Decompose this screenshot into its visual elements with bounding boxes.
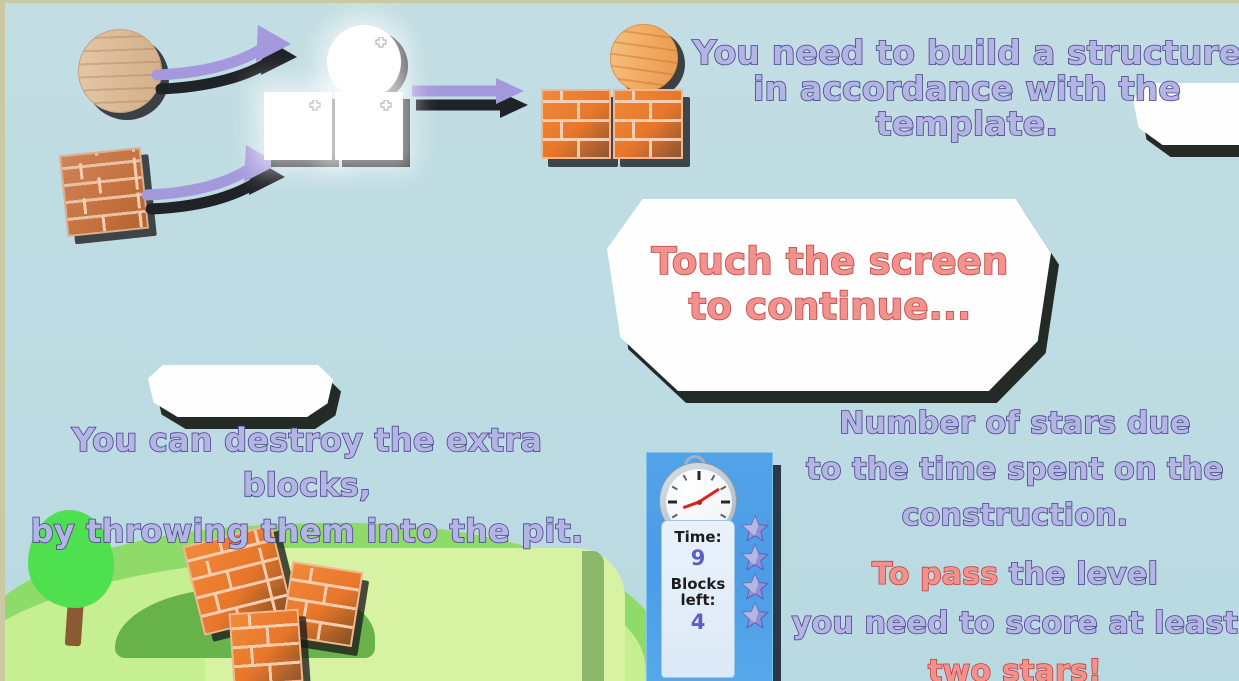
pass-text-purple-1: the level (998, 557, 1158, 592)
template-circle-slot[interactable] (327, 25, 401, 99)
result-wood-circle-block (610, 24, 678, 92)
time-label: Time: (662, 530, 734, 545)
hud-panel: Time: 9 Blocks left: 4 (646, 452, 773, 681)
brick-texture (59, 147, 149, 237)
stopwatch-tick (711, 475, 716, 481)
result-brick-block-right (613, 89, 683, 159)
star-icon (741, 544, 769, 571)
prompt-bubble-text[interactable]: Touch the screento continue... (635, 239, 1025, 329)
puzzle-piece-icon (378, 100, 394, 114)
blocks-left-label: Blocks left: (662, 577, 734, 608)
pass-text-red-2: two stars! (928, 654, 1102, 681)
template-square-slot-right[interactable] (335, 92, 403, 160)
blocks-left-value: 4 (662, 611, 734, 633)
puzzle-piece-icon (373, 37, 389, 51)
puzzle-piece-icon (307, 100, 323, 114)
stopwatch-tick (683, 475, 688, 481)
pass-text-red-1: To pass (872, 557, 998, 592)
decor-bubble-small (148, 365, 333, 417)
instruction-destroy-blocks: You can destroy the extra blocks, by thr… (11, 418, 603, 554)
pass-text-purple-2: you need to score at least (792, 606, 1238, 641)
star-icon (741, 602, 769, 629)
instruction-build-structure: You need to build a structure in accorda… (691, 35, 1239, 142)
source-brick-square-block[interactable] (59, 147, 149, 237)
brick-texture (229, 609, 304, 681)
stopwatch-tick (672, 514, 678, 519)
stopwatch-tick (720, 486, 726, 491)
stopwatch-tick (698, 471, 701, 480)
template-square-slot-left[interactable] (264, 92, 332, 160)
instruction-pass-level: To pass the levelyou need to score at le… (787, 551, 1239, 681)
hud-readout-panel: Time: 9 Blocks left: 4 (661, 520, 735, 678)
brick-texture (613, 89, 683, 159)
arrow-template-to-result (410, 75, 535, 123)
prompt-line-1: Touch the screen (651, 240, 1008, 283)
result-brick-block-left (541, 89, 611, 159)
plateau-shadow (582, 551, 604, 681)
stopwatch-tick (672, 486, 678, 491)
star-icon (741, 515, 769, 542)
star-icon (741, 573, 769, 600)
stopwatch-tick (721, 501, 730, 504)
star-rating (741, 515, 771, 631)
brick-texture (541, 89, 611, 159)
instruction-stars-time: Number of stars due to the time spent on… (789, 401, 1239, 539)
stopwatch-tick (668, 501, 677, 504)
bubble-fill (148, 365, 333, 417)
stopwatch-pin (697, 500, 702, 505)
fallen-brick-block-3[interactable] (229, 609, 304, 681)
stopwatch-tick (720, 514, 726, 519)
prompt-line-2: to continue... (689, 285, 972, 328)
tutorial-screen[interactable]: You need to build a structure in accorda… (0, 0, 1239, 681)
time-value: 9 (662, 547, 734, 569)
